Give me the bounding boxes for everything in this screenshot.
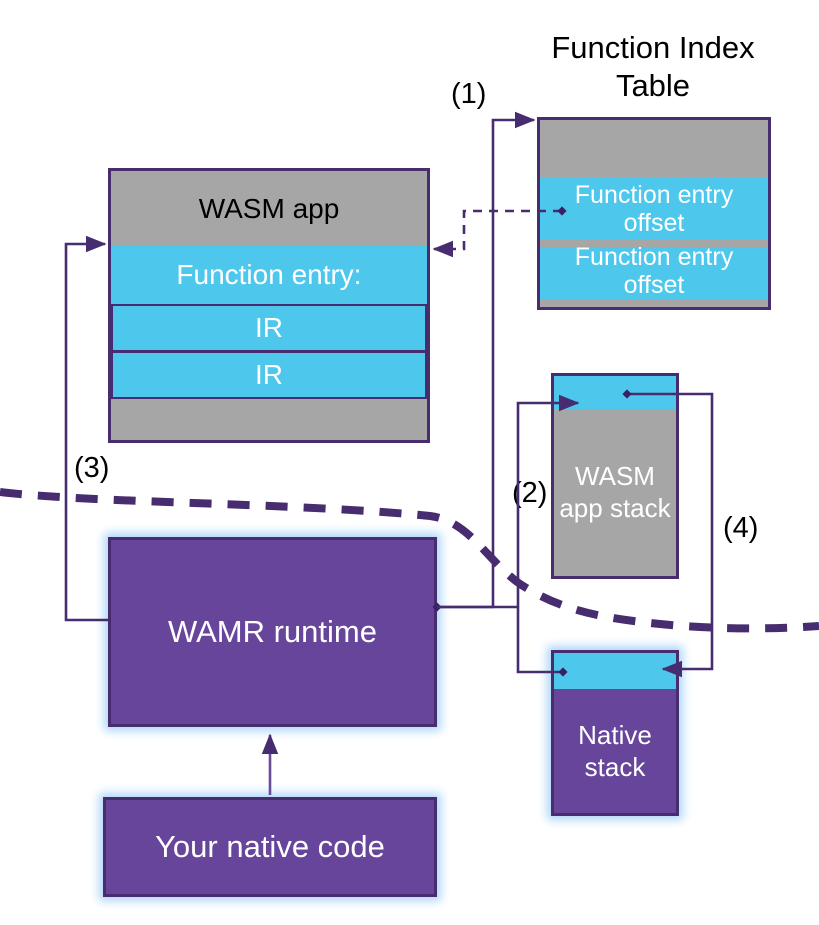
connector-step-1 [437,120,534,607]
wasm-app-box: WASM app Function entry: IR IR [108,168,430,443]
fit-row-1: Function entry offset [540,177,768,240]
wasm-app-ir-row-1: IR [111,304,427,352]
wasm-app-ir-row-2-label: IR [113,353,425,397]
wasm-app-stack-cap [554,376,676,409]
wasm-app-header: WASM app [111,171,427,246]
diagram-canvas: Function Index Table Function entry offs… [0,0,819,925]
function-index-table-title: Function Index Table [528,29,778,105]
fit-row-3: Function entry offset [540,248,768,299]
native-stack-box: Native stack [551,650,679,816]
step-label-3: (3) [74,452,109,485]
your-native-code-label: Your native code [106,800,434,894]
wasm-app-function-entry-row: Function entry: [111,246,427,304]
native-stack-cap [554,653,676,689]
wasm-app-stack-box: WASM app stack [551,373,679,579]
wasm-app-footer [111,399,427,440]
native-stack-body: Native stack [554,689,676,813]
wamr-runtime-box: WAMR runtime [108,537,437,727]
connector-step-3 [66,244,110,620]
wasm-app-ir-row-2: IR [111,351,427,399]
native-stack-label: Native stack [554,689,676,813]
fit-row-3-label: Function entry offset [540,242,768,299]
fit-row-0 [540,120,768,177]
wamr-runtime-label: WAMR runtime [111,540,434,724]
wasm-app-stack-label: WASM app stack [554,409,676,576]
wasm-app-function-entry-label: Function entry: [111,246,427,304]
wasm-app-ir-row-1-label: IR [113,306,425,350]
step-label-1: (1) [451,78,486,111]
your-native-code-box: Your native code [103,797,437,897]
fit-row-4-strip [540,299,768,307]
function-index-table: Function entry offset Function entry off… [537,117,771,310]
wasm-app-header-label: WASM app [111,171,427,246]
step-label-4: (4) [723,512,758,545]
step-label-2: (2) [512,477,547,510]
fit-row-2-strip [540,240,768,248]
wasm-app-stack-body: WASM app stack [554,409,676,576]
fit-row-1-label: Function entry offset [540,177,768,240]
